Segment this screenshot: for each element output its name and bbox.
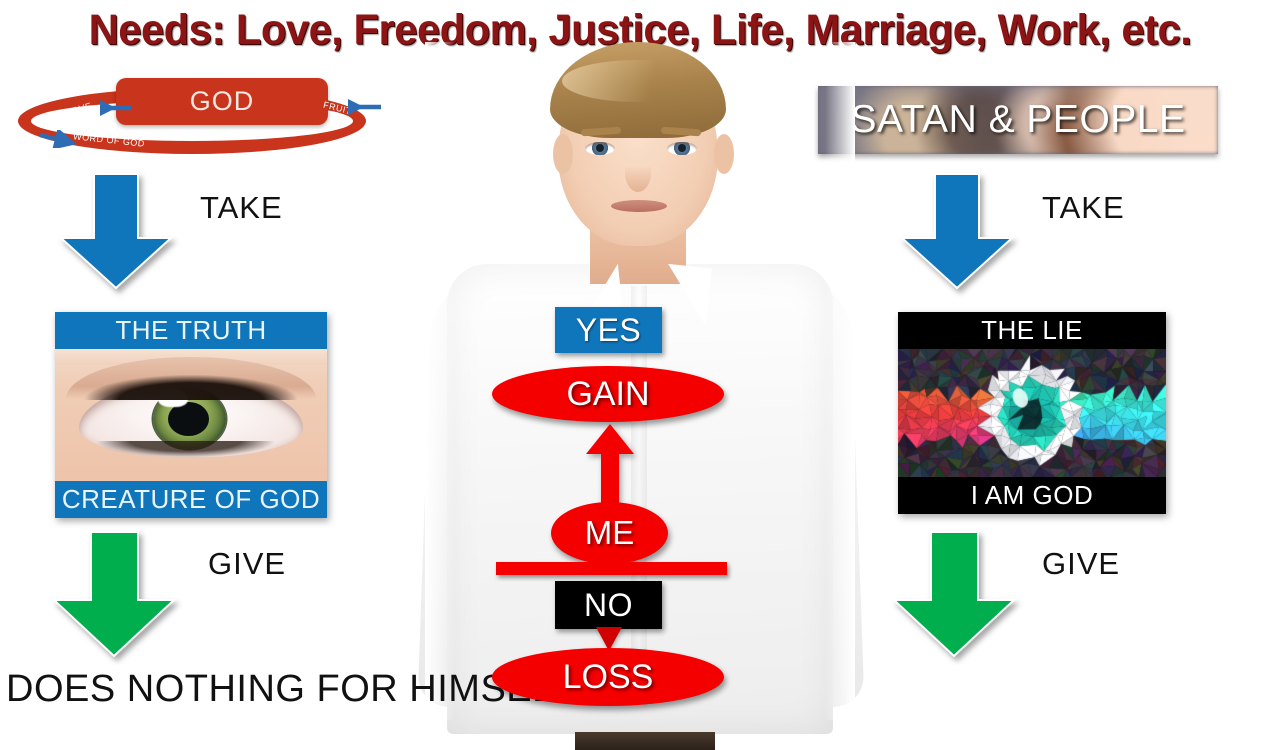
man-pupil-left <box>596 144 604 152</box>
lie-eye-image <box>898 349 1166 477</box>
yes-chip[interactable]: YES <box>555 307 662 353</box>
satan-and-people-banner: SATAN & PEOPLE <box>818 86 1218 154</box>
man-pupil-right <box>678 144 686 152</box>
lie-card[interactable]: THE LIE I AM GOD <box>898 312 1166 514</box>
right-take-label: TAKE <box>1042 190 1125 226</box>
right-give-arrow-icon <box>890 530 1018 658</box>
satan-banner-label: SATAN & PEOPLE <box>818 86 1218 154</box>
gain-ellipse[interactable]: GAIN <box>492 366 724 422</box>
arrow-left-fruit-icon <box>348 99 382 115</box>
mouth <box>611 200 667 212</box>
belt <box>575 732 715 750</box>
ear-left <box>553 134 573 174</box>
collar-right <box>662 264 712 326</box>
divider-red-bar <box>496 562 727 575</box>
left-take-arrow-icon <box>57 172 175 290</box>
lie-card-footer: I AM GOD <box>898 477 1166 514</box>
hair <box>550 42 726 138</box>
left-give-arrow-icon <box>50 530 178 658</box>
right-take-arrow-icon <box>898 172 1016 290</box>
truth-card-footer: CREATURE OF GOD <box>55 481 327 518</box>
truth-eye-image <box>55 349 327 481</box>
right-give-label: GIVE <box>1042 546 1120 582</box>
loss-ellipse[interactable]: LOSS <box>492 648 724 706</box>
left-give-label: GIVE <box>208 546 286 582</box>
ear-right <box>714 134 734 174</box>
me-ellipse[interactable]: ME <box>551 502 668 564</box>
truth-card-header: THE TRUTH <box>55 312 327 349</box>
god-banner: GOD <box>116 78 328 125</box>
nose <box>625 154 651 192</box>
truth-card[interactable]: THE TRUTH CREATURE OF GOD <box>55 312 327 518</box>
up-arrow-icon <box>584 424 636 508</box>
arrow-right-word-icon <box>38 130 76 148</box>
no-chip[interactable]: NO <box>555 581 662 629</box>
low-poly-colorful-eye <box>898 349 1166 477</box>
realistic-green-eye <box>55 349 327 481</box>
lie-card-header: THE LIE <box>898 312 1166 349</box>
god-cycle-diagram: GOD LOVE FRUIT WORD OF GOD <box>18 78 388 160</box>
left-take-label: TAKE <box>200 190 283 226</box>
arrow-left-love-icon <box>100 100 132 116</box>
slide-canvas: Needs: Love, Freedom, Justice, Life, Mar… <box>0 0 1280 720</box>
god-banner-label: GOD <box>116 78 328 125</box>
eye-lower-lashes <box>88 441 284 458</box>
low-poly-eye-canvas <box>898 349 1166 477</box>
